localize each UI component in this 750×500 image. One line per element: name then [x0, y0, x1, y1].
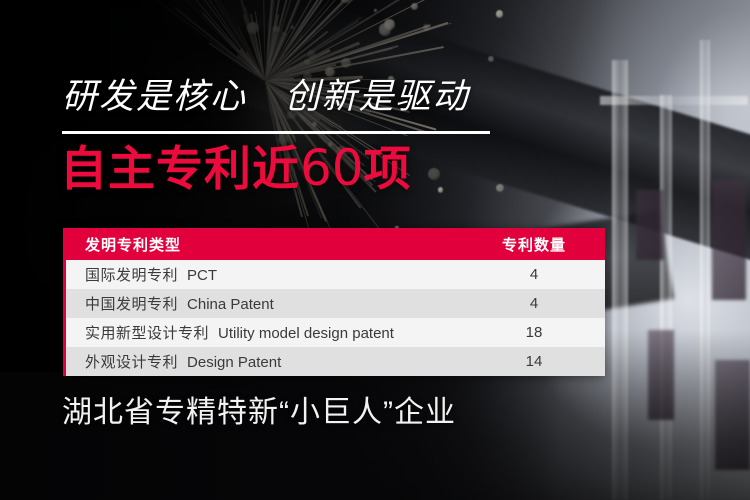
cell-patent-type: 国际发明专利PCT [66, 264, 469, 285]
cell-patent-type-cn: 国际发明专利 [85, 267, 178, 284]
headline-top-left: 研发是核心 [62, 77, 247, 116]
headline-red-prefix: 自主专利近 [60, 142, 300, 195]
cell-patent-type: 中国发明专利China Patent [66, 293, 469, 314]
patent-table-header: 发明专利类型 专利数量 [63, 228, 605, 260]
headline-top-right: 创新是驱动 [284, 77, 469, 116]
cell-patent-count: 4 [469, 295, 605, 312]
headline-red: 自主专利近60项 [60, 143, 412, 193]
banner-content: 研发是核心 创新是驱动 自主专利近60项 发明专利类型 专利数量 国际发明专利P… [0, 0, 750, 500]
headline-top: 研发是核心 创新是驱动 [62, 79, 470, 114]
table-row: 实用新型设计专利Utility model design patent18 [63, 318, 605, 347]
table-row: 外观设计专利Design Patent14 [63, 347, 605, 376]
cell-patent-type-cn: 中国发明专利 [85, 296, 178, 313]
cell-patent-count: 14 [469, 353, 605, 370]
banner-stage: 研发是核心 创新是驱动 自主专利近60项 发明专利类型 专利数量 国际发明专利P… [0, 0, 750, 500]
cell-patent-type-en: Utility model design patent [218, 325, 394, 342]
cell-patent-type-cn: 实用新型设计专利 [85, 325, 209, 342]
column-header-count: 专利数量 [469, 234, 605, 255]
cell-patent-type-cn: 外观设计专利 [85, 354, 178, 371]
cell-patent-type-en: Design Patent [187, 354, 281, 371]
headline-red-number: 60 [300, 139, 364, 197]
column-header-type: 发明专利类型 [63, 234, 469, 255]
headline-divider [62, 131, 490, 134]
cell-patent-count: 4 [469, 266, 605, 283]
patent-table-body: 国际发明专利PCT4中国发明专利China Patent4实用新型设计专利Uti… [63, 260, 605, 376]
table-row: 国际发明专利PCT4 [63, 260, 605, 289]
patent-table: 发明专利类型 专利数量 国际发明专利PCT4中国发明专利China Patent… [63, 228, 605, 376]
cell-patent-type-en: China Patent [187, 296, 274, 313]
headline-red-suffix: 项 [364, 142, 412, 195]
footer-tagline: 湖北省专精特新“小巨人”企业 [62, 398, 456, 428]
table-row: 中国发明专利China Patent4 [63, 289, 605, 318]
cell-patent-count: 18 [469, 324, 605, 341]
cell-patent-type-en: PCT [187, 267, 217, 284]
cell-patent-type: 实用新型设计专利Utility model design patent [66, 322, 469, 343]
cell-patent-type: 外观设计专利Design Patent [66, 351, 469, 372]
